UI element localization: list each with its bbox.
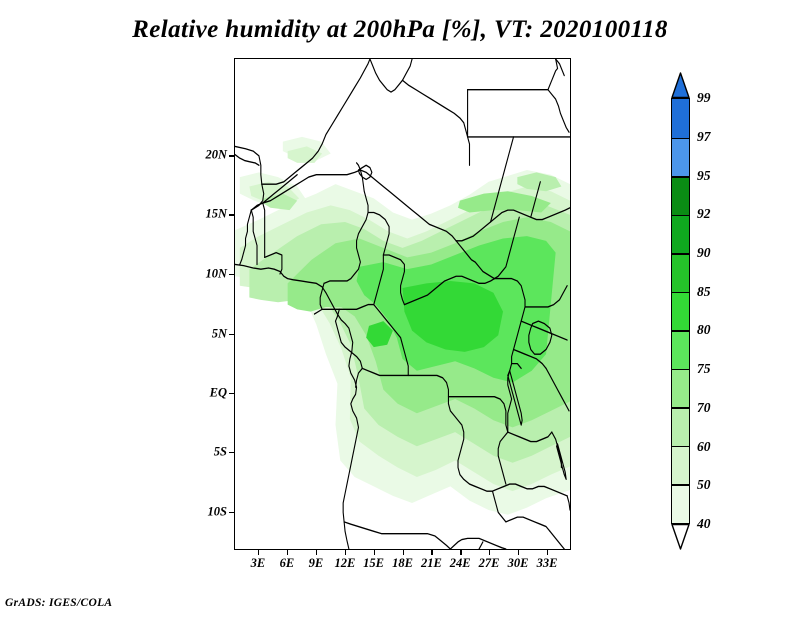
colorbar-tick-label: 40	[697, 516, 711, 532]
colorbar-segment	[672, 215, 689, 254]
colorbar-arrow-high	[671, 72, 690, 98]
y-axis-label: 20N	[205, 148, 227, 163]
colorbar-segment	[672, 292, 689, 331]
colorbar-tick-label: 97	[697, 129, 711, 145]
x-axis-label: 6E	[280, 556, 295, 571]
colorbar-segment	[672, 99, 689, 138]
map-canvas	[235, 59, 570, 549]
colorbar: 99 97 95 92 90 85 80 75 70 60 50 40	[671, 72, 690, 550]
map-panel: 20N 15N 10N 5N EQ 5S 10S 3E 6E 9E 12E 15…	[234, 58, 571, 550]
y-axis-label: 5N	[212, 326, 227, 341]
x-axis-label: 24E	[450, 556, 471, 571]
x-axis-label: 15E	[363, 556, 384, 571]
colorbar-segment	[672, 407, 689, 446]
x-axis-label: 27E	[479, 556, 500, 571]
x-axis-label: 3E	[251, 556, 266, 571]
y-axis-label: EQ	[210, 386, 227, 401]
x-axis-label: 33E	[537, 556, 558, 571]
map-frame	[234, 58, 571, 550]
colorbar-segment	[672, 176, 689, 215]
x-axis-label: 9E	[309, 556, 324, 571]
x-axis-label: 12E	[334, 556, 355, 571]
colorbar-segment	[672, 253, 689, 292]
colorbar-tick-label: 75	[697, 361, 711, 377]
colorbar-arrow-low	[671, 524, 690, 550]
colorbar-tick-label: 70	[697, 400, 711, 416]
colorbar-segment	[672, 330, 689, 369]
colorbar-tick-label: 90	[697, 245, 711, 261]
grads-plot: Relative humidity at 200hPa [%], VT: 202…	[0, 0, 800, 618]
x-axis-label: 18E	[392, 556, 413, 571]
colorbar-tick-label: 60	[697, 439, 711, 455]
colorbar-segment	[672, 369, 689, 408]
y-axis-label: 10S	[208, 504, 227, 519]
colorbar-tick-label: 50	[697, 477, 711, 493]
colorbar-segment	[672, 138, 689, 177]
colorbar-tick-label: 99	[697, 90, 711, 106]
colorbar-tick-label: 80	[697, 322, 711, 338]
x-axis-label: 30E	[508, 556, 529, 571]
y-axis-label: 5S	[214, 445, 227, 460]
y-axis-label: 15N	[205, 207, 227, 222]
grads-attribution: GrADS: IGES/COLA	[5, 597, 112, 609]
colorbar-body	[671, 98, 690, 524]
page-title: Relative humidity at 200hPa [%], VT: 202…	[0, 16, 800, 44]
colorbar-tick-label: 95	[697, 168, 711, 184]
colorbar-segment	[672, 484, 689, 523]
x-axis-label: 21E	[421, 556, 442, 571]
colorbar-tick-label: 92	[697, 206, 711, 222]
y-axis-label: 10N	[205, 266, 227, 281]
colorbar-segment	[672, 446, 689, 485]
colorbar-tick-label: 85	[697, 284, 711, 300]
